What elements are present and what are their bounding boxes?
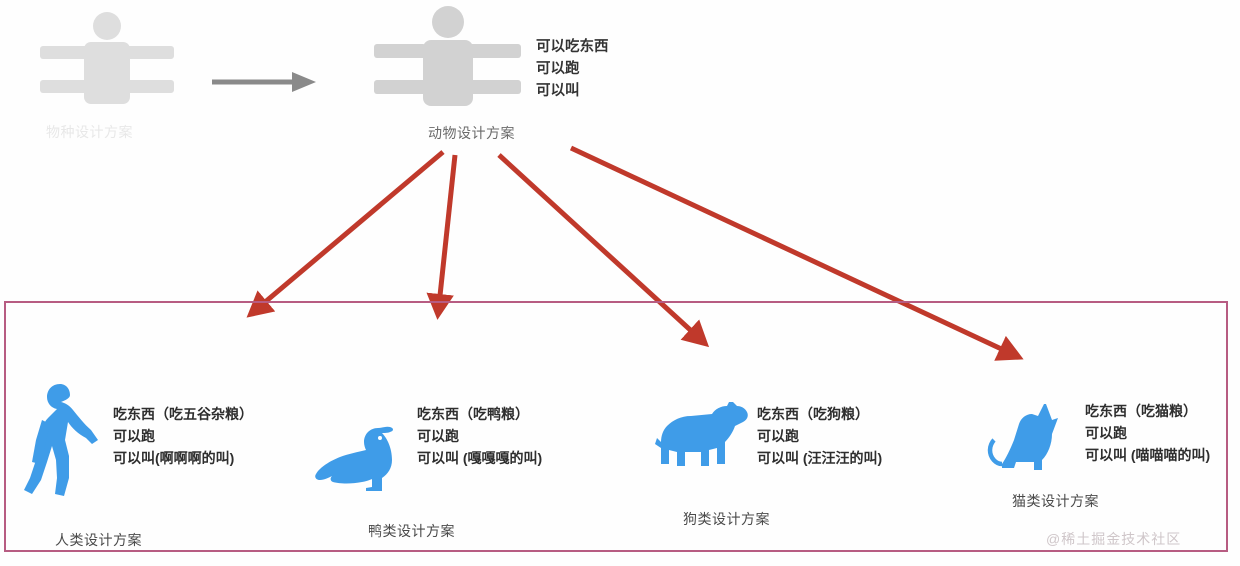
trait-item: 吃东西（吃猫粮） bbox=[1085, 400, 1210, 422]
trait-item: 吃东西（吃狗粮） bbox=[757, 403, 882, 425]
trait-item: 吃东西（吃五谷杂粮） bbox=[113, 403, 253, 425]
duck-icon bbox=[310, 424, 412, 494]
dog-icon bbox=[655, 398, 753, 476]
dog-icon-wrap bbox=[655, 398, 753, 476]
trait-item: 可以叫 (嘎嘎嘎的叫) bbox=[417, 447, 542, 469]
watermark-text: @稀土掘金技术社区 bbox=[1046, 529, 1181, 549]
walking-person-icon bbox=[18, 382, 110, 502]
duck-design-label: 鸭类设计方案 bbox=[368, 521, 455, 541]
dog-traits: 吃东西（吃狗粮） 可以跑 可以叫 (汪汪汪的叫) bbox=[757, 403, 882, 469]
arrow-to-duck bbox=[439, 155, 455, 305]
cat-design-label: 猫类设计方案 bbox=[1012, 491, 1099, 511]
cat-icon-wrap bbox=[988, 402, 1076, 480]
human-icon-wrap bbox=[18, 382, 110, 502]
human-design-label: 人类设计方案 bbox=[55, 530, 142, 550]
arrow-to-human bbox=[258, 152, 443, 308]
trait-item: 可以跑 bbox=[1085, 422, 1210, 444]
diagram-canvas: 物种设计方案 动物设计方案 可以吃东西 可以跑 可以叫 bbox=[0, 0, 1240, 566]
trait-item: 可以跑 bbox=[113, 425, 253, 447]
trait-item: 可以叫(啊啊啊的叫) bbox=[113, 447, 253, 469]
cat-traits: 吃东西（吃猫粮） 可以跑 可以叫 (喵喵喵的叫) bbox=[1085, 400, 1210, 466]
trait-item: 可以叫 (喵喵喵的叫) bbox=[1085, 444, 1210, 466]
trait-item: 吃东西（吃鸭粮） bbox=[417, 403, 542, 425]
duck-traits: 吃东西（吃鸭粮） 可以跑 可以叫 (嘎嘎嘎的叫) bbox=[417, 403, 542, 469]
dog-design-label: 狗类设计方案 bbox=[683, 509, 770, 529]
trait-item: 可以叫 (汪汪汪的叫) bbox=[757, 447, 882, 469]
human-traits: 吃东西（吃五谷杂粮） 可以跑 可以叫(啊啊啊的叫) bbox=[113, 403, 253, 469]
cat-icon bbox=[988, 402, 1076, 480]
trait-item: 可以跑 bbox=[757, 425, 882, 447]
duck-icon-wrap bbox=[310, 424, 412, 494]
trait-item: 可以跑 bbox=[417, 425, 542, 447]
